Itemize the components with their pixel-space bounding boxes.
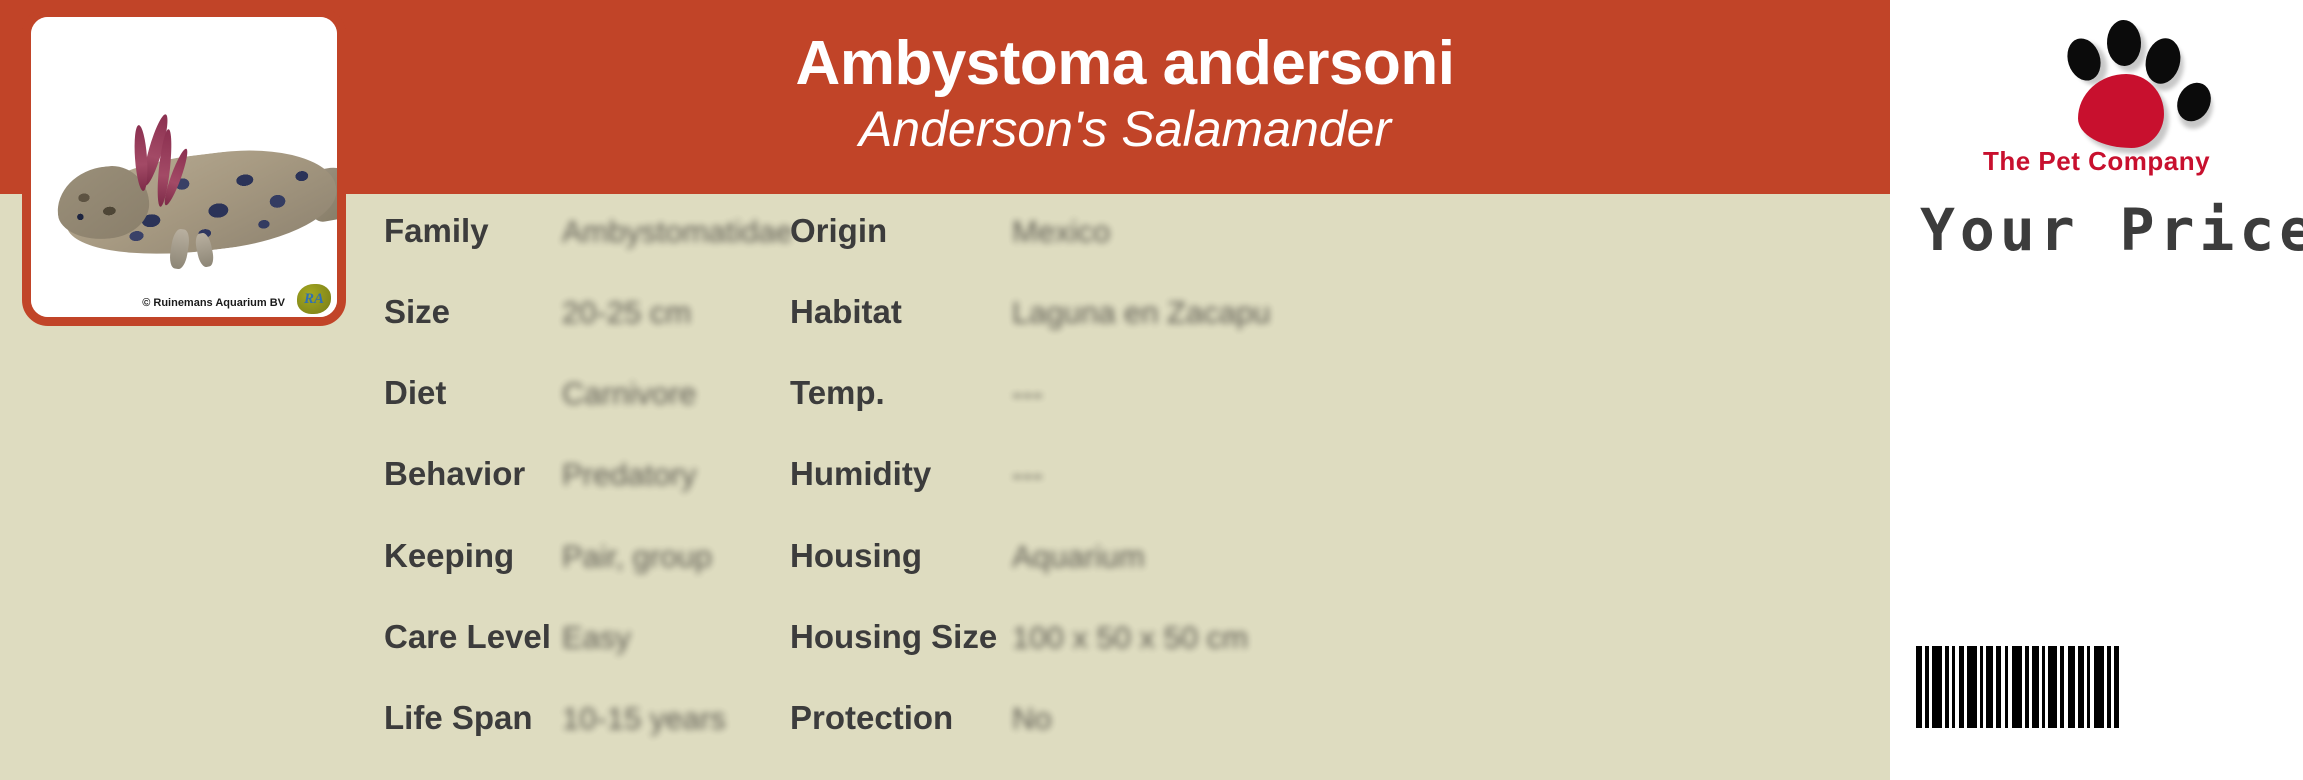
barcode-bar (1986, 646, 1993, 728)
spec-column-left: FamilyAmbystomatidaeSize20-25 cmDietCarn… (0, 194, 760, 780)
spec-row: Life Span10-15 years (384, 699, 760, 780)
barcode-bar (2094, 646, 2104, 728)
spec-label: Diet (384, 374, 562, 412)
spec-value: 100 x 50 x 50 cm (1012, 620, 1248, 656)
header-titles: Ambystoma andersoni Anderson's Salamande… (360, 0, 1890, 194)
spec-value: --- (1012, 457, 1043, 493)
spec-table: FamilyAmbystomatidaeSize20-25 cmDietCarn… (0, 194, 1890, 780)
barcode-bar (2068, 646, 2075, 728)
barcode-bar (1967, 646, 1977, 728)
barcode-bar (1932, 646, 1942, 728)
spec-value: Easy (562, 620, 631, 656)
paw-toe-icon (2171, 77, 2217, 127)
spec-label: Origin (790, 212, 1012, 250)
spec-row: Humidity--- (790, 455, 1890, 536)
spec-row: BehaviorPredatory (384, 455, 760, 536)
paw-print-icon (1890, 12, 2303, 142)
pet-care-label: Ambystoma andersoni Anderson's Salamande… (0, 0, 2303, 780)
barcode-icon (1916, 646, 2246, 728)
spec-label: Humidity (790, 455, 1012, 493)
barcode-bar (2048, 646, 2057, 728)
spec-row: Size20-25 cm (384, 293, 760, 374)
paw-toe-icon (2062, 34, 2106, 85)
spec-label: Size (384, 293, 562, 331)
spec-value: Predatory (562, 457, 696, 493)
spec-label: Housing Size (790, 618, 1012, 656)
spec-row: Care LevelEasy (384, 618, 760, 699)
spec-value: Ambystomatidae (562, 214, 793, 250)
scientific-name: Ambystoma andersoni (796, 31, 1455, 96)
spec-row: Housing Size100 x 50 x 50 cm (790, 618, 1890, 699)
spec-value: Carnivore (562, 376, 696, 412)
spec-row: DietCarnivore (384, 374, 760, 455)
spec-value: No (1012, 701, 1052, 737)
spec-value: --- (1012, 376, 1043, 412)
spec-value: 10-15 years (562, 701, 726, 737)
spec-label: Family (384, 212, 562, 250)
spec-row: OriginMexico (790, 212, 1890, 293)
common-name: Anderson's Salamander (859, 102, 1391, 157)
spec-value: Aquarium (1012, 539, 1145, 575)
barcode-bar (2032, 646, 2039, 728)
paw-toe-icon (2106, 19, 2142, 66)
paw-pad-icon (2078, 74, 2164, 148)
spec-row: Temp.--- (790, 374, 1890, 455)
spec-value: Laguna en Zacapu (1012, 295, 1271, 331)
spec-label: Behavior (384, 455, 562, 493)
spec-label: Temp. (790, 374, 1012, 412)
spec-label: Life Span (384, 699, 562, 737)
paw-toe-icon (2141, 35, 2185, 88)
spec-label: Housing (790, 537, 1012, 575)
spec-value: Mexico (1012, 214, 1110, 250)
spec-value: Pair, group (562, 539, 712, 575)
your-price-label: Your Price (1920, 196, 2303, 264)
info-card: Ambystoma andersoni Anderson's Salamande… (0, 0, 1890, 780)
spec-row: FamilyAmbystomatidae (384, 212, 760, 293)
spec-label: Keeping (384, 537, 562, 575)
spec-row: HousingAquarium (790, 537, 1890, 618)
barcode-bar (2114, 646, 2119, 728)
spec-column-right: OriginMexicoHabitatLaguna en ZacapuTemp.… (760, 194, 1890, 780)
spec-row: ProtectionNo (790, 699, 1890, 780)
brand-logo: The Pet Company (1890, 10, 2303, 200)
brand-name: The Pet Company (1890, 146, 2303, 177)
spec-row: KeepingPair, group (384, 537, 760, 618)
spec-label: Protection (790, 699, 1012, 737)
brand-price-panel: The Pet Company Your Price (1890, 0, 2303, 780)
spec-label: Care Level (384, 618, 562, 656)
barcode-bar (2012, 646, 2022, 728)
spec-row: HabitatLaguna en Zacapu (790, 293, 1890, 374)
spec-value: 20-25 cm (562, 295, 691, 331)
spec-label: Habitat (790, 293, 1012, 331)
